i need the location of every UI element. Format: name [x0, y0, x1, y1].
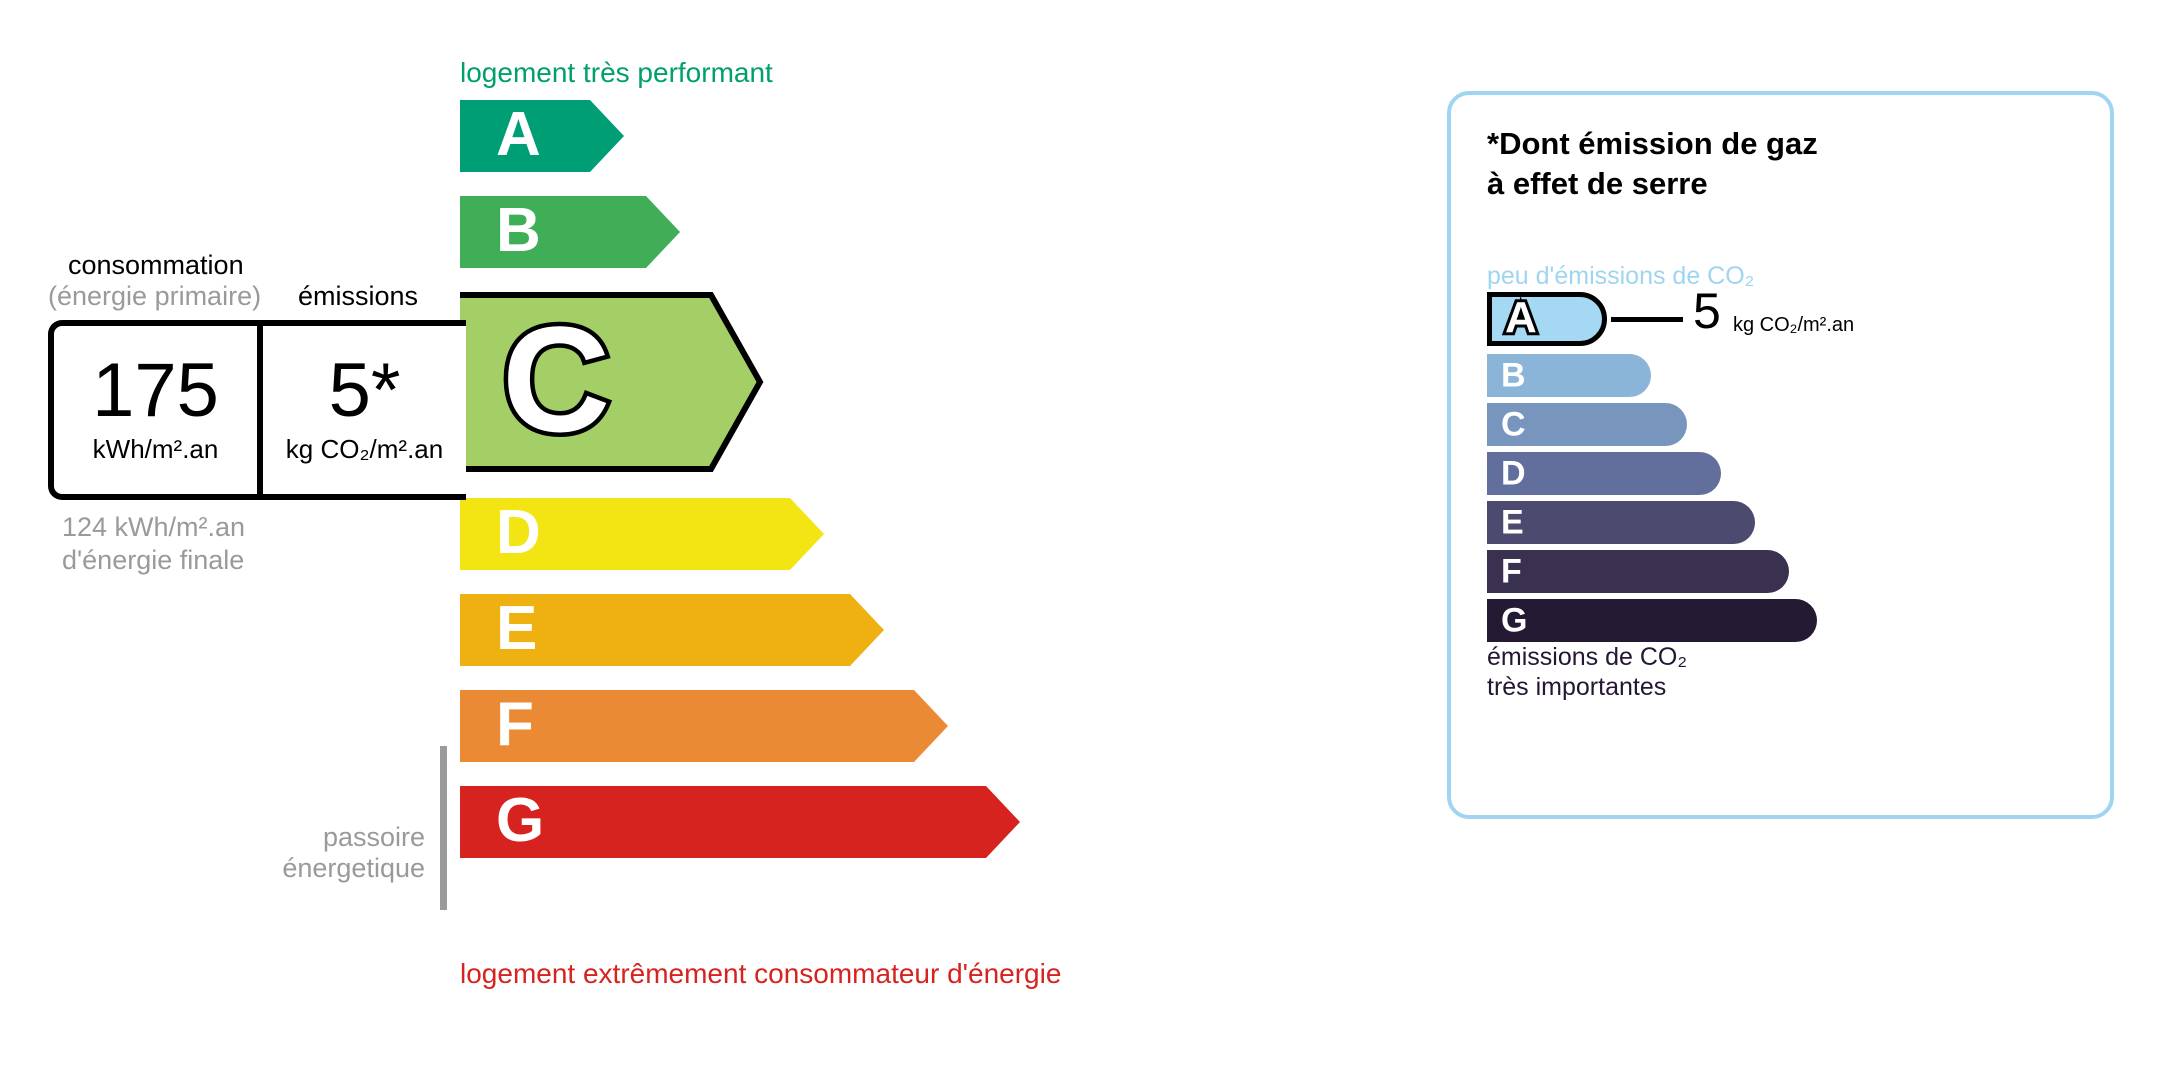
final-energy-line2: d'énergie finale	[62, 545, 244, 576]
final-energy-line1: 124 kWh/m².an	[62, 512, 245, 543]
passoire-label-line1: passoire	[280, 822, 425, 853]
scale-top-label: logement très performant	[460, 57, 773, 89]
co2-bar-letter-b: B	[1501, 358, 1526, 392]
passoire-marker-bar	[440, 746, 447, 910]
band-letter-b: B	[496, 200, 541, 262]
scale-bottom-label: logement extrêmement consommateur d'éner…	[460, 958, 1061, 990]
co2-bar-letter-g: G	[1501, 603, 1527, 637]
header-consumption-line1: consommation	[68, 250, 244, 281]
emission-unit: kg CO₂/m².an	[286, 434, 443, 465]
co2-panel: *Dont émission de gaz à effet de serre p…	[1447, 91, 2114, 819]
passoire-label-line2: énergetique	[260, 853, 425, 884]
co2-bar-body-g	[1487, 599, 1817, 642]
co2-leader-line	[1611, 317, 1683, 322]
band-tip-d	[790, 498, 824, 570]
header-consumption-line2: (énergie primaire)	[48, 281, 261, 312]
energy-unit: kWh/m².an	[93, 434, 219, 465]
band-letter-c: C	[502, 304, 610, 454]
co2-bar-body-f	[1487, 550, 1789, 593]
co2-bottom-label-line2: très importantes	[1487, 673, 1666, 702]
band-tip-f	[914, 690, 948, 762]
band-letter-f: F	[496, 694, 534, 756]
band-tip-g	[986, 786, 1020, 858]
band-letter-d: D	[496, 502, 541, 564]
band-tip-c	[708, 292, 760, 472]
band-tip-b	[646, 196, 680, 268]
header-emissions: émissions	[298, 281, 418, 312]
co2-bar-letter-d: D	[1501, 456, 1526, 490]
energy-value-cell: 175 kWh/m².an	[54, 326, 257, 494]
dpe-label: logement très performant A B C	[0, 0, 2169, 1079]
band-body-b	[460, 196, 646, 268]
co2-value: 5	[1693, 286, 1721, 336]
energy-value: 175	[92, 355, 219, 427]
band-letter-g: G	[496, 790, 544, 852]
band-letter-a: A	[496, 104, 541, 166]
band-letter-e: E	[496, 598, 537, 660]
co2-bar-letter-c: C	[1501, 407, 1526, 441]
co2-unit: kg CO₂/m².an	[1733, 314, 1854, 337]
emission-value: 5*	[329, 355, 401, 427]
co2-bar-body-e	[1487, 501, 1755, 544]
co2-bottom-label-line1: émissions de CO₂	[1487, 643, 1687, 672]
band-tip-e	[850, 594, 884, 666]
co2-bar-letter-f: F	[1501, 554, 1522, 588]
energy-scale-section: logement très performant A B C	[0, 0, 1400, 1079]
band-tip-a	[590, 100, 624, 172]
co2-panel-title: *Dont émission de gaz à effet de serre	[1487, 124, 1818, 203]
co2-bar-letter-a: A	[1505, 296, 1537, 340]
co2-bar-letter-e: E	[1501, 505, 1524, 539]
consumption-value-box: 175 kWh/m².an 5* kg CO₂/m².an	[48, 320, 466, 500]
emission-value-cell: 5* kg CO₂/m².an	[257, 326, 466, 494]
